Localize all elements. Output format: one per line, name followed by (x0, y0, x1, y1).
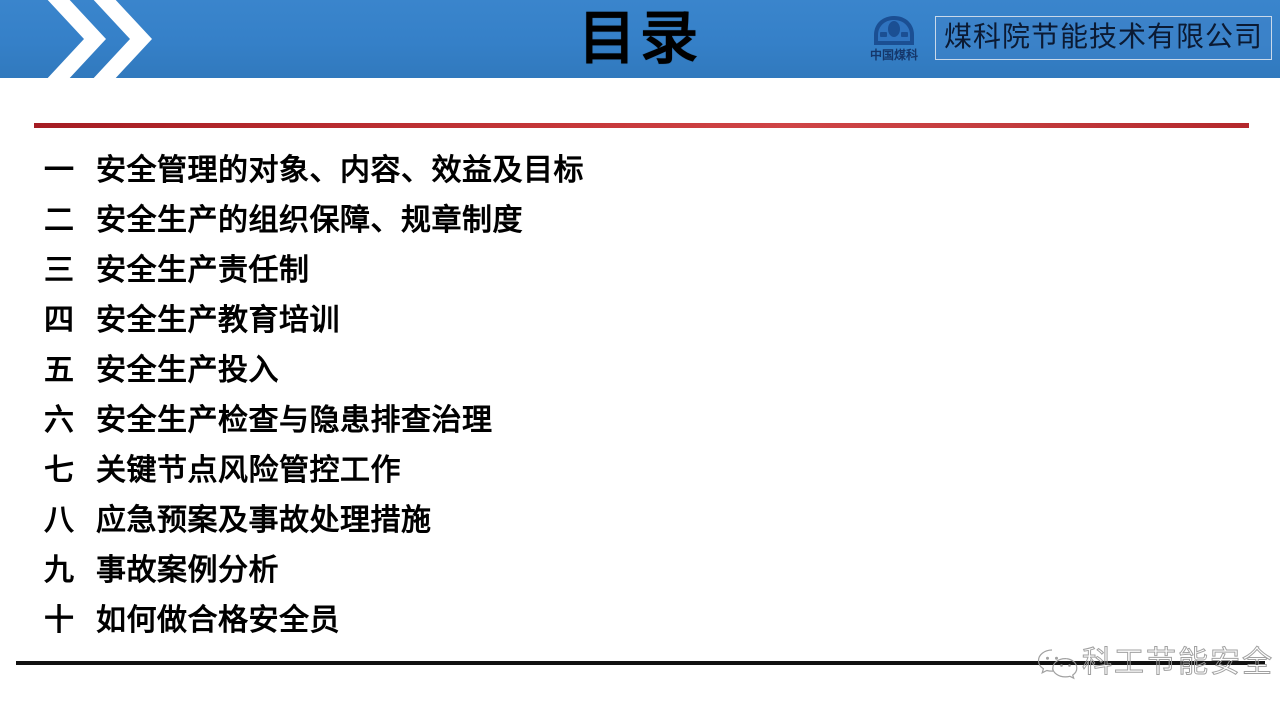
brand-block: 中国煤科 煤科院节能技术有限公司 (859, 7, 1272, 69)
company-name-box: 煤科院节能技术有限公司 (935, 16, 1272, 60)
toc-item-label: 如何做合格安全员 (96, 606, 340, 636)
toc-item-number: 七 (44, 456, 96, 486)
wechat-icon (1036, 646, 1078, 680)
toc-item-number: 六 (44, 406, 96, 436)
toc-item-number: 五 (44, 356, 96, 386)
list-item[interactable]: 九 事故案例分析 (0, 556, 1280, 606)
list-item[interactable]: 六 安全生产检查与隐患排查治理 (0, 406, 1280, 456)
toc-item-label: 应急预案及事故处理措施 (96, 506, 432, 536)
toc-item-number: 一 (44, 156, 96, 186)
coal-shield-icon (871, 15, 917, 47)
toc-item-label: 安全生产的组织保障、规章制度 (96, 206, 523, 236)
logo-text: 中国煤科 (870, 49, 918, 61)
list-item[interactable]: 五 安全生产投入 (0, 356, 1280, 406)
list-item[interactable]: 四 安全生产教育培训 (0, 306, 1280, 356)
toc-list: 一 安全管理的对象、内容、效益及目标 二 安全生产的组织保障、规章制度 三 安全… (0, 156, 1280, 656)
company-name: 煤科院节能技术有限公司 (944, 23, 1263, 51)
toc-item-label: 安全生产检查与隐患排查治理 (96, 406, 493, 436)
list-item[interactable]: 七 关键节点风险管控工作 (0, 456, 1280, 506)
list-item[interactable]: 八 应急预案及事故处理措施 (0, 506, 1280, 556)
toc-item-label: 关键节点风险管控工作 (96, 456, 401, 486)
toc-item-number: 八 (44, 506, 96, 536)
toc-item-number: 十 (44, 606, 96, 636)
header-band: 目录 中国煤科 煤科院节能技术有限公司 (0, 0, 1280, 78)
toc-item-label: 安全生产投入 (96, 356, 279, 386)
list-item[interactable]: 一 安全管理的对象、内容、效益及目标 (0, 156, 1280, 206)
toc-item-label: 安全管理的对象、内容、效益及目标 (96, 156, 584, 186)
watermark: 科工节能安全 (1036, 640, 1274, 686)
toc-item-label: 安全生产教育培训 (96, 306, 340, 336)
toc-item-number: 九 (44, 556, 96, 586)
toc-item-number: 三 (44, 256, 96, 286)
logo: 中国煤科 (859, 8, 929, 68)
toc-item-number: 二 (44, 206, 96, 236)
watermark-text: 科工节能安全 (1082, 648, 1274, 678)
red-divider (34, 123, 1249, 128)
list-item[interactable]: 二 安全生产的组织保障、规章制度 (0, 206, 1280, 256)
toc-item-number: 四 (44, 306, 96, 336)
list-item[interactable]: 三 安全生产责任制 (0, 256, 1280, 306)
toc-item-label: 事故案例分析 (96, 556, 279, 586)
toc-item-label: 安全生产责任制 (96, 256, 310, 286)
slide-canvas: 目录 中国煤科 煤科院节能技术有限公司 一 安全管理的对象、内容、 (0, 0, 1280, 720)
